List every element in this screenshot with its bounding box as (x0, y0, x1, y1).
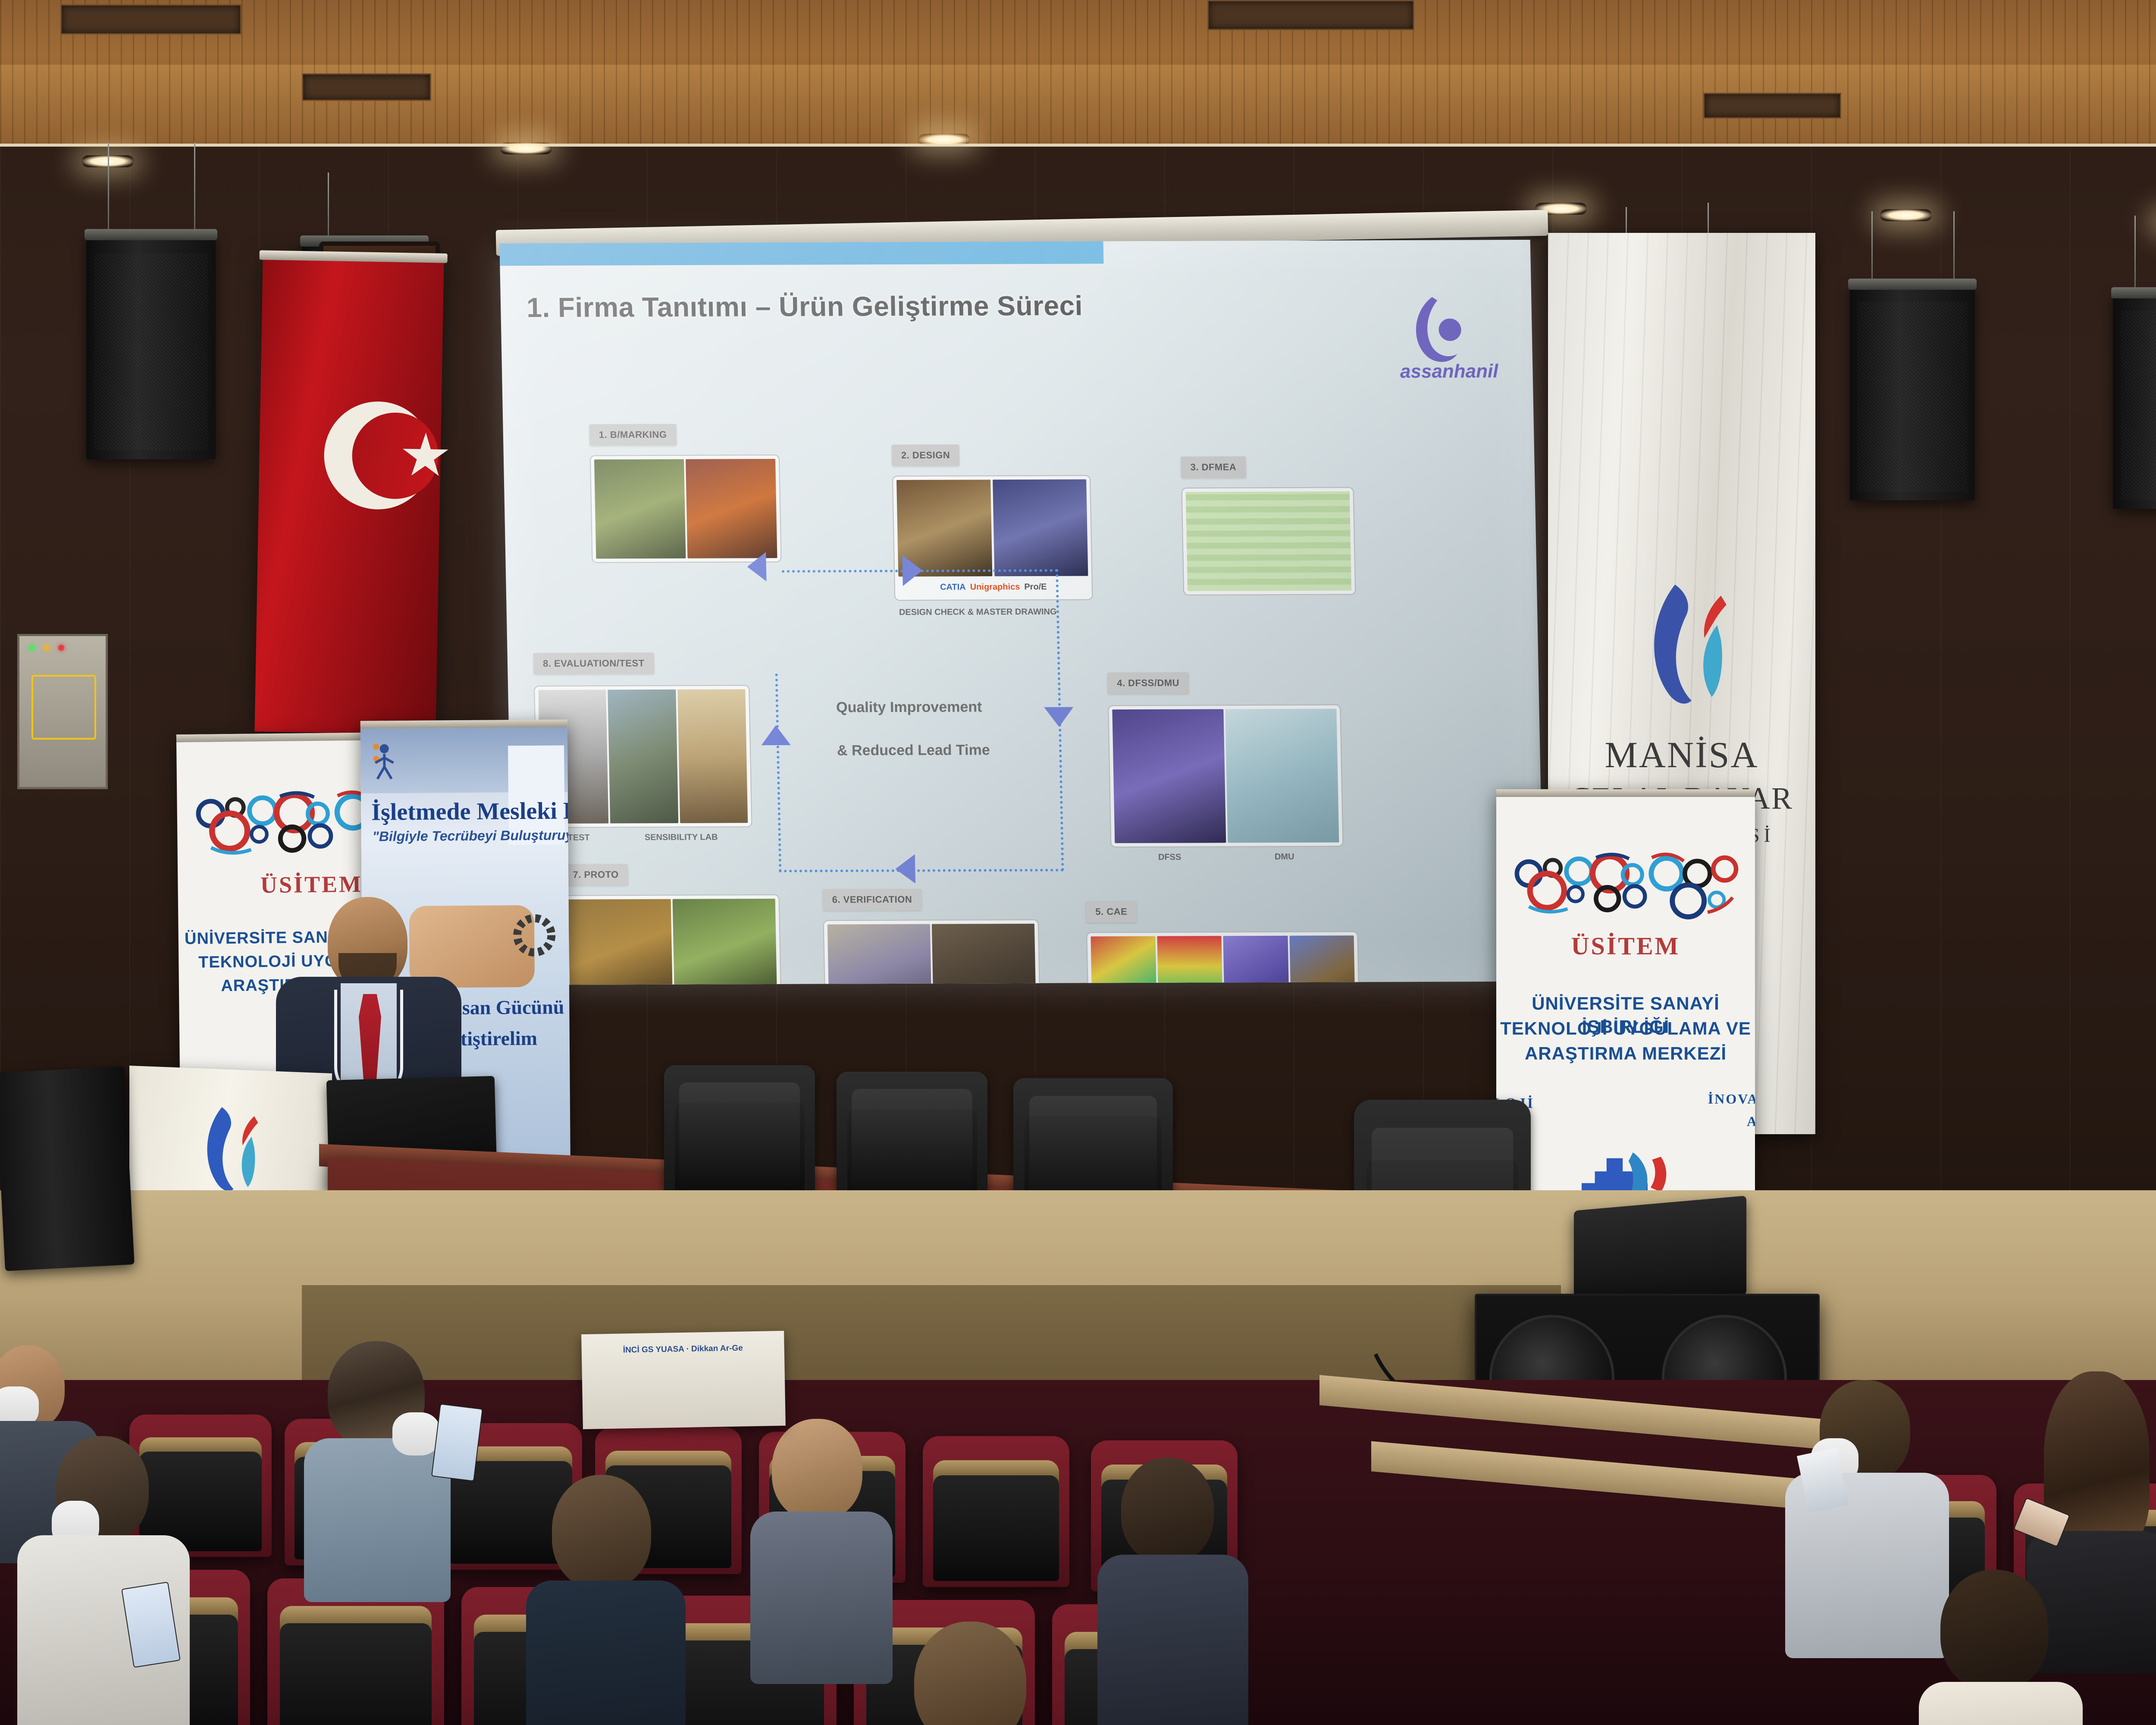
node-caption-dmu: DMU (1275, 852, 1294, 862)
slide-center-line-2: & Reduced Lead Time (837, 742, 990, 759)
speaker-suspension-wire (2134, 216, 2136, 298)
node-label: 7. PROTO (563, 864, 628, 886)
node-thumbnails (1108, 704, 1343, 847)
speaker-suspension-wire (194, 142, 195, 241)
speaker-suspension-wire (1871, 211, 1873, 289)
node-label: 1. B/MARKING (589, 424, 677, 446)
node-thumbnails (564, 894, 781, 985)
turkish-flag (254, 257, 444, 734)
slide-node-design: 2. DESIGN CATIA Unigraphics Pro/E DESIGN… (891, 444, 1094, 445)
thumbnail (1225, 709, 1339, 843)
slide-center-line-1: Quality Improvement (836, 699, 982, 716)
node-caption-sensibility-lab: SENSIBILITY LAB (645, 832, 718, 843)
audience-head (552, 1475, 651, 1589)
thumbnail (1289, 935, 1356, 985)
thumbnail (1091, 936, 1157, 985)
thumbnail (568, 899, 673, 985)
node-label: 4. DFSS/DMU (1107, 672, 1189, 694)
projection-screen: 1. Firma Tanıtımı – Ürün Geliştirme Süre… (499, 240, 1544, 985)
thumbnail (1157, 936, 1223, 985)
usitem-tag-arge: AR-GE (1643, 1113, 1755, 1129)
speaker-mount (85, 229, 217, 240)
status-led-green (29, 645, 35, 651)
node-thumbnails (1181, 487, 1356, 595)
banner-rail (1496, 789, 1755, 797)
warning-placard (31, 675, 96, 740)
audience-torso (526, 1581, 686, 1725)
slide-node-proto: 7. PROTO CAM (563, 863, 787, 864)
flow-arrow-top-right (902, 555, 922, 586)
ceiling-vent (1703, 93, 1841, 119)
thumbnail (827, 924, 932, 985)
hanging-speaker (86, 235, 216, 459)
ceiling-vent (302, 73, 431, 101)
thumbnail (686, 459, 777, 558)
node-thumbnails (823, 919, 1040, 985)
mcbu-flame-logo-icon (1621, 574, 1751, 712)
slide-node-dfss-dmu: 4. DFSS/DMU DFSS DMU (1107, 671, 1349, 672)
flow-arrow-bottom-left (895, 854, 915, 884)
mcbu-flame-logo-icon (183, 1098, 276, 1198)
ceiling-light (500, 142, 552, 154)
thumbnail (993, 480, 1088, 577)
node-label: 5. CAE (1086, 901, 1137, 922)
speaker-suspension-wire (1953, 211, 1955, 289)
person-figure-icon (369, 742, 400, 783)
ceiling-vent (60, 4, 241, 34)
thumbnail (932, 924, 1036, 985)
assanhanil-wordmark: assanhanil (1400, 361, 1498, 383)
smartphone[interactable] (431, 1404, 483, 1482)
thumbnail (1223, 936, 1289, 985)
usitem-gears-icon (1512, 827, 1739, 944)
thumbnail (677, 689, 748, 823)
slide-node-verification: 6. VERIFICATION Design check with RP (822, 888, 1047, 889)
gear-icon (504, 905, 565, 966)
hanging-speaker (1850, 285, 1975, 500)
slide-node-evaluation-test: 8. EVALUATION/TEST MS/ES TEST SENSIBILIT… (533, 652, 758, 653)
panel-chair (664, 1065, 815, 1207)
status-led-amber (44, 645, 50, 651)
flow-loop-bottom (779, 869, 1063, 872)
audience-torso (1097, 1555, 1248, 1725)
thumbnail (673, 899, 777, 985)
thumbnail (594, 459, 686, 559)
flow-loop-left (775, 674, 782, 872)
status-led-red (58, 645, 64, 651)
slide-node-bmarking: 1. B/MARKING (589, 423, 787, 424)
usitem-tag-inovasyon: İNOVASYON (1626, 1091, 1755, 1107)
node-label: 8. EVALUATION/TEST (533, 652, 655, 674)
usitem-line-3: ARAŞTIRMA MERKEZİ (1496, 1042, 1755, 1065)
node-thumbnails (1086, 931, 1360, 985)
auditorium-scene: 1. Firma Tanıtımı – Ürün Geliştirme Süre… (0, 0, 2156, 1725)
usitem-line-2: TEKNOLOJİ UYGULAMA VE (1496, 1017, 1755, 1040)
thumbnail (608, 690, 678, 823)
sponsor-card-logos: İNCİ GS YUASA · Dikkan Ar-Ge (582, 1343, 784, 1356)
speaker-mount (2111, 287, 2156, 298)
ceiling-vent (1207, 0, 1414, 30)
node-label: 3. DFMEA (1181, 456, 1246, 478)
slide-accent-band (499, 241, 1103, 266)
ceiling-light (918, 134, 970, 146)
audience-head (1121, 1458, 1214, 1563)
audience-torso (750, 1512, 893, 1684)
side-stage-speaker (0, 1066, 135, 1271)
node-caption-dfss: DFSS (1158, 853, 1181, 862)
node-thumbnails (590, 455, 782, 563)
seat-back (933, 1475, 1059, 1581)
stage-wedge-monitor (1574, 1196, 1746, 1310)
slide-node-cae: 5. CAE H/IM&THERMAL ANALYSIS IMAGE EVALU… (1086, 900, 1366, 901)
isletmede-subtitle: "Bilgiyle Tecrübeyi Buluşturuyoruz" (372, 827, 571, 845)
chair-back (675, 1102, 805, 1202)
audience-head (772, 1419, 862, 1520)
audience-head (1940, 1570, 2048, 1690)
face-mask (392, 1412, 440, 1455)
audience-seat (923, 1436, 1069, 1587)
audience-torso (1919, 1682, 2083, 1725)
thumbnail-table (1186, 491, 1351, 591)
flow-arrow-right-down (1044, 707, 1074, 727)
speaker-suspension-wire (328, 172, 329, 246)
audience-torso (304, 1438, 451, 1602)
isletmede-title: İşletmede Mesleki Eğitim (371, 797, 571, 826)
flow-arrow-left-up-lower (761, 725, 791, 745)
speaker-suspension-wire (108, 142, 109, 241)
ceiling-light (1880, 209, 1932, 221)
thumbnail (1112, 709, 1226, 843)
speaker-mount (1848, 279, 1977, 290)
node-label: 6. VERIFICATION (822, 889, 922, 911)
flow-arrow-left-up (747, 552, 766, 581)
slide-node-dfmea: 3. DFMEA (1181, 456, 1362, 456)
electrical-cabinet[interactable] (17, 634, 108, 789)
hanging-speaker (2113, 293, 2156, 509)
usitem-acronym: ÜSİTEM (1496, 931, 1755, 960)
slide-title: 1. Firma Tanıtımı – Ürün Geliştirme Süre… (526, 290, 1083, 323)
seat-back (280, 1623, 432, 1725)
sponsor-card-stand: İNCİ GS YUASA · Dikkan Ar-Ge (581, 1331, 786, 1429)
node-caption-design-check: DESIGN CHECK & MASTER DRAWING (899, 607, 1057, 618)
mcbu-line-1: MANİSA (1548, 733, 1815, 776)
node-label: 2. DESIGN (891, 445, 959, 467)
